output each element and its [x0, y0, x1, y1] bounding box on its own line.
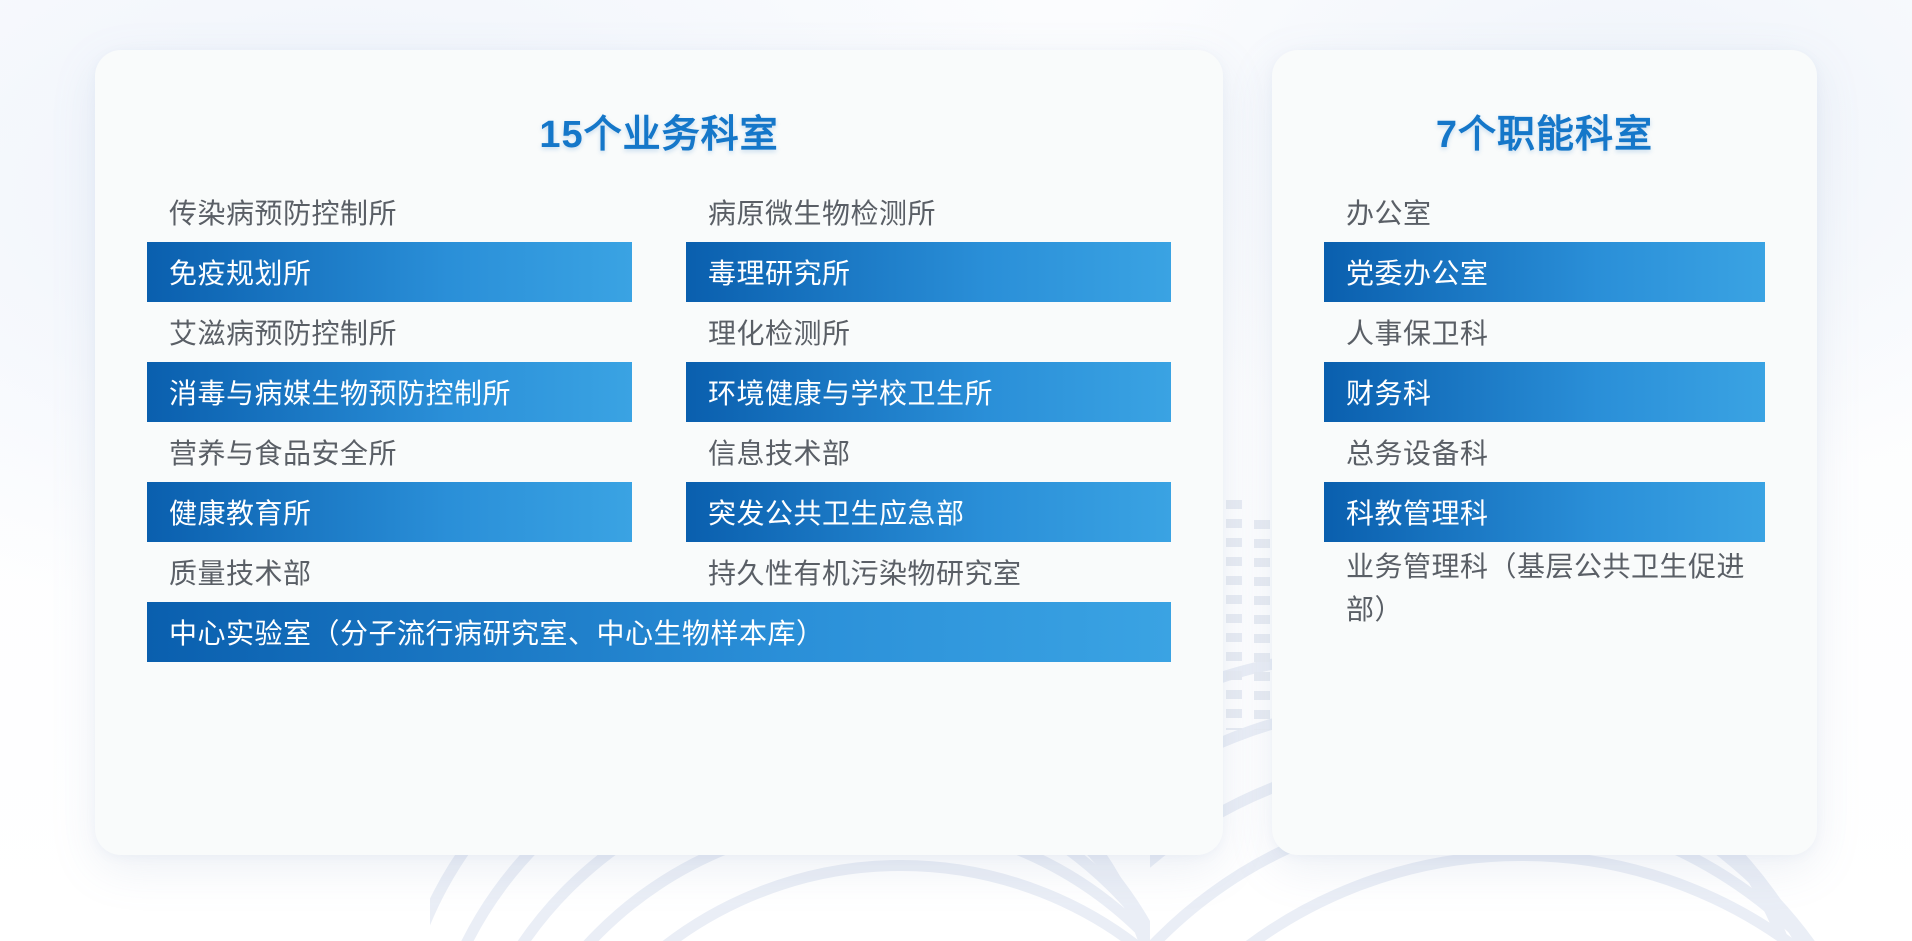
- functional-column: 办公室 党委办公室 人事保卫科 财务科 总务设备科 科教管理科 业务管理科（基层…: [1324, 182, 1765, 635]
- list-item[interactable]: 免疫规划所: [147, 242, 632, 302]
- list-item-label: 理化检测所: [708, 312, 851, 352]
- list-item[interactable]: 传染病预防控制所: [147, 182, 632, 242]
- list-item[interactable]: 艾滋病预防控制所: [147, 302, 632, 362]
- list-item-label: 毒理研究所: [708, 252, 851, 292]
- list-item-label: 健康教育所: [169, 492, 312, 532]
- list-item-label: 财务科: [1346, 372, 1432, 412]
- list-item-full-width[interactable]: 中心实验室（分子流行病研究室、中心生物样本库）: [147, 602, 1171, 662]
- list-item-label: 传染病预防控制所: [169, 192, 397, 232]
- list-item-label: 营养与食品安全所: [169, 432, 397, 472]
- list-item[interactable]: 突发公共卫生应急部: [686, 482, 1171, 542]
- list-item-label: 办公室: [1346, 192, 1432, 232]
- card-business-departments: 15个业务科室 传染病预防控制所 免疫规划所 艾滋病预防控制所 消毒与病媒生物预…: [95, 50, 1223, 855]
- card-title-business: 15个业务科室: [95, 50, 1223, 158]
- list-item[interactable]: 营养与食品安全所: [147, 422, 632, 482]
- business-column-left: 传染病预防控制所 免疫规划所 艾滋病预防控制所 消毒与病媒生物预防控制所 营养与…: [147, 182, 632, 602]
- list-item[interactable]: 健康教育所: [147, 482, 632, 542]
- list-item-label: 突发公共卫生应急部: [708, 492, 965, 532]
- list-item[interactable]: 办公室: [1324, 182, 1765, 242]
- list-item[interactable]: 持久性有机污染物研究室: [686, 542, 1171, 602]
- list-item[interactable]: 科教管理科: [1324, 482, 1765, 542]
- business-columns: 传染病预防控制所 免疫规划所 艾滋病预防控制所 消毒与病媒生物预防控制所 营养与…: [95, 182, 1223, 602]
- card-title-functional: 7个职能科室: [1272, 50, 1817, 158]
- list-item[interactable]: 人事保卫科: [1324, 302, 1765, 362]
- list-item[interactable]: 总务设备科: [1324, 422, 1765, 482]
- list-item-label: 病原微生物检测所: [708, 192, 936, 232]
- list-item-label: 总务设备科: [1346, 432, 1489, 472]
- list-item-label: 业务管理科（基层公共卫生促进部）: [1346, 546, 1765, 631]
- list-item[interactable]: 信息技术部: [686, 422, 1171, 482]
- list-item[interactable]: 业务管理科（基层公共卫生促进部）: [1324, 542, 1765, 635]
- business-full-width-rows: 中心实验室（分子流行病研究室、中心生物样本库）: [95, 602, 1223, 662]
- list-item[interactable]: 环境健康与学校卫生所: [686, 362, 1171, 422]
- functional-columns: 办公室 党委办公室 人事保卫科 财务科 总务设备科 科教管理科 业务管理科（基层…: [1272, 182, 1817, 635]
- list-item[interactable]: 财务科: [1324, 362, 1765, 422]
- list-item[interactable]: 毒理研究所: [686, 242, 1171, 302]
- list-item-label: 中心实验室（分子流行病研究室、中心生物样本库）: [169, 612, 825, 652]
- list-item-label: 质量技术部: [169, 552, 312, 592]
- list-item-label: 人事保卫科: [1346, 312, 1489, 352]
- list-item-label: 环境健康与学校卫生所: [708, 372, 993, 412]
- list-item-label: 免疫规划所: [169, 252, 312, 292]
- business-column-right: 病原微生物检测所 毒理研究所 理化检测所 环境健康与学校卫生所 信息技术部 突发…: [686, 182, 1171, 602]
- list-item[interactable]: 消毒与病媒生物预防控制所: [147, 362, 632, 422]
- list-item-label: 科教管理科: [1346, 492, 1489, 532]
- list-item-label: 艾滋病预防控制所: [169, 312, 397, 352]
- list-item[interactable]: 党委办公室: [1324, 242, 1765, 302]
- list-item-label: 持久性有机污染物研究室: [708, 552, 1022, 592]
- cards-stage: 15个业务科室 传染病预防控制所 免疫规划所 艾滋病预防控制所 消毒与病媒生物预…: [0, 0, 1912, 941]
- list-item-label: 消毒与病媒生物预防控制所: [169, 372, 511, 412]
- list-item-label: 党委办公室: [1346, 252, 1489, 292]
- list-item[interactable]: 质量技术部: [147, 542, 632, 602]
- list-item-label: 信息技术部: [708, 432, 851, 472]
- list-item[interactable]: 病原微生物检测所: [686, 182, 1171, 242]
- list-item[interactable]: 理化检测所: [686, 302, 1171, 362]
- card-functional-departments: 7个职能科室 办公室 党委办公室 人事保卫科 财务科 总务设备科 科教管理科 业…: [1272, 50, 1817, 855]
